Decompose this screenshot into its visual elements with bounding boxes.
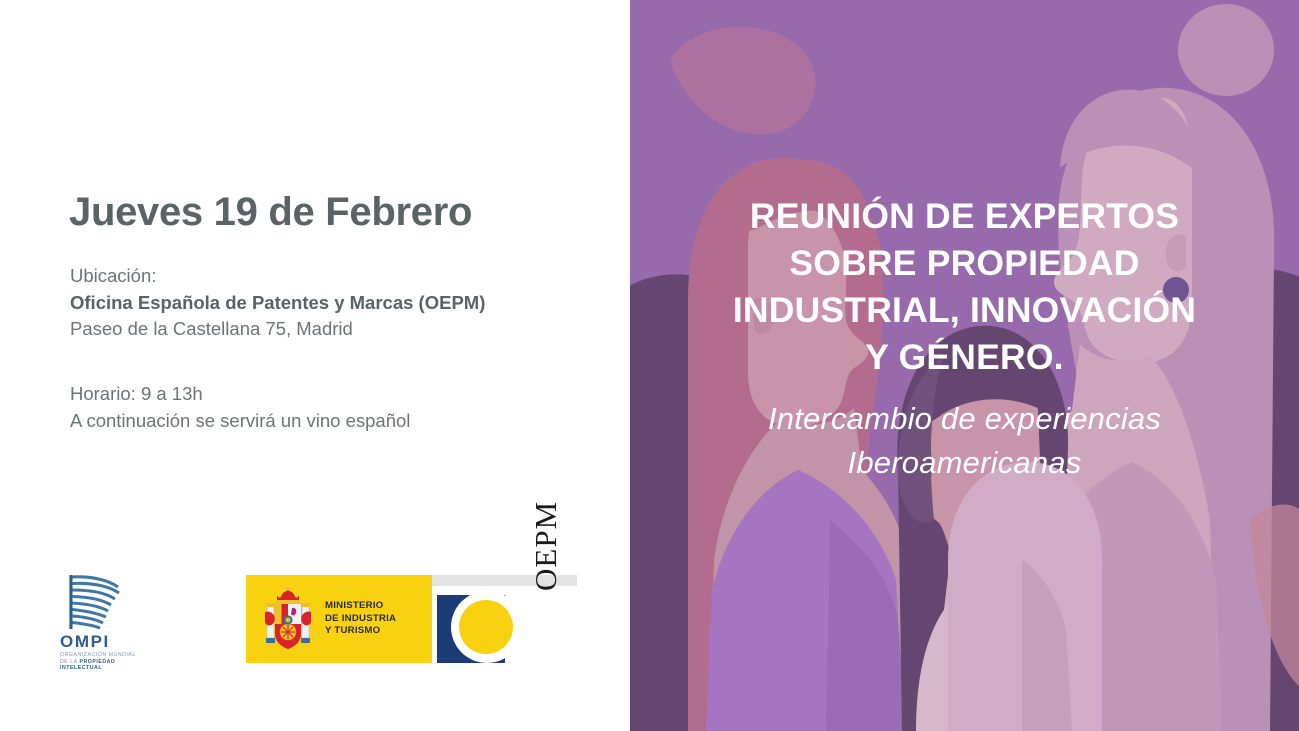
event-subtitle-line1: Intercambio de experiencias <box>665 397 1265 441</box>
event-text-overlay: REUNIÓN DE EXPERTOS SOBRE PROPIEDAD INDU… <box>630 0 1299 731</box>
ministerio-logo: MINISTERIO DE INDUSTRIA Y TURISMO <box>246 575 432 663</box>
oepm-wordmark: OEPM <box>528 501 564 591</box>
schedule-block: Horario: 9 a 13h A continuación se servi… <box>70 381 410 434</box>
event-title-line4: Y GÉNERO. <box>655 334 1275 381</box>
ministerio-line2: DE INDUSTRIA <box>325 613 396 625</box>
oepm-yellow-circle <box>459 600 513 654</box>
location-label: Ubicación: <box>70 263 485 290</box>
oepm-circle-icon <box>437 595 505 663</box>
oepm-logo: OEPM <box>432 575 577 665</box>
ministerio-line3: Y TURISMO <box>325 625 396 637</box>
event-title-line1: REUNIÓN DE EXPERTOS <box>655 193 1275 240</box>
right-illustration-panel: REUNIÓN DE EXPERTOS SOBRE PROPIEDAD INDU… <box>630 0 1299 731</box>
spain-coat-of-arms-svg <box>263 586 313 652</box>
event-subtitle: Intercambio de experiencias Iberoamerica… <box>665 397 1265 485</box>
ministerio-line1: MINISTERIO <box>325 600 396 612</box>
ompi-tagline-line2: DE LA PROPIEDAD <box>60 659 180 666</box>
ompi-tagline-line2-plain: DE LA <box>60 659 79 665</box>
location-block: Ubicación: Oficina Española de Patentes … <box>70 263 485 343</box>
ompi-globe-icon <box>66 573 124 630</box>
ompi-tagline-line2-bold: PROPIEDAD <box>79 659 115 665</box>
sponsor-logo-strip: OMPI ORGANIZACIÓN MUNDIAL DE LA PROPIEDA… <box>0 565 630 675</box>
ompi-tagline: ORGANIZACIÓN MUNDIAL DE LA PROPIEDAD INT… <box>60 652 180 672</box>
ompi-tagline-line3-bold: INTELECTUAL <box>60 665 102 671</box>
left-info-panel: Jueves 19 de Febrero Ubicación: Oficina … <box>0 0 630 731</box>
schedule-hours: Horario: 9 a 13h <box>70 381 410 408</box>
ompi-tagline-line1: ORGANIZACIÓN MUNDIAL <box>60 652 180 659</box>
event-subtitle-line2: Iberoamericanas <box>665 441 1265 485</box>
event-poster: Jueves 19 de Febrero Ubicación: Oficina … <box>0 0 1299 731</box>
event-title-line3: INDUSTRIAL, INNOVACIÓN <box>655 287 1275 334</box>
ompi-globe-svg <box>66 573 124 630</box>
location-venue: Oficina Española de Patentes y Marcas (O… <box>70 290 485 317</box>
ompi-logo: OMPI ORGANIZACIÓN MUNDIAL DE LA PROPIEDA… <box>60 573 180 668</box>
spain-coat-of-arms-icon <box>263 586 313 652</box>
page-title: Jueves 19 de Febrero <box>69 190 472 235</box>
event-title-line2: SOBRE PROPIEDAD <box>655 240 1275 287</box>
ministerio-text: MINISTERIO DE INDUSTRIA Y TURISMO <box>325 600 396 637</box>
schedule-note: A continuación se servirá un vino españo… <box>70 408 410 435</box>
ompi-wordmark: OMPI <box>60 633 180 650</box>
ompi-tagline-line3: INTELECTUAL <box>60 665 180 672</box>
location-address: Paseo de la Castellana 75, Madrid <box>70 316 485 343</box>
event-title: REUNIÓN DE EXPERTOS SOBRE PROPIEDAD INDU… <box>655 193 1275 381</box>
